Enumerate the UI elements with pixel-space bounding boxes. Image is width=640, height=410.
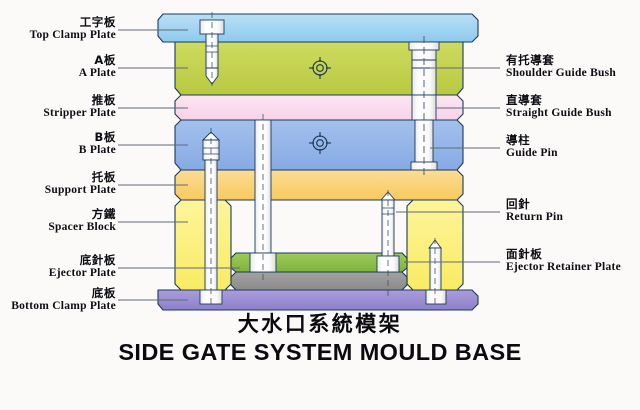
label-ejector-retainer-plate-en: Ejector Retainer Plate (506, 261, 621, 274)
label-bottom-clamp-plate-cn: 底板 (11, 287, 116, 300)
label-ejector-plate: 底針板 Ejector Plate (49, 254, 116, 280)
label-straight-guide-bush: 直導套 Straight Guide Bush (506, 94, 612, 120)
label-top-clamp-plate-cn: 工字板 (30, 16, 116, 29)
label-stripper-plate: 推板 Stripper Plate (43, 94, 116, 120)
return-pin-shaft (382, 200, 394, 256)
label-ejector-retainer-plate: 面針板 Ejector Retainer Plate (506, 248, 621, 274)
label-straight-guide-bush-en: Straight Guide Bush (506, 107, 612, 120)
label-ejector-plate-cn: 底針板 (49, 254, 116, 267)
label-guide-pin-cn: 導柱 (506, 134, 558, 147)
label-support-plate-cn: 托板 (45, 171, 116, 184)
label-straight-guide-bush-cn: 直導套 (506, 94, 612, 107)
label-bottom-clamp-plate: 底板 Bottom Clamp Plate (11, 287, 116, 313)
label-shoulder-guide-bush-en: Shoulder Guide Bush (506, 67, 616, 80)
label-spacer-block-en: Spacer Block (48, 221, 116, 234)
label-support-plate-en: Support Plate (45, 184, 116, 197)
label-top-clamp-plate: 工字板 Top Clamp Plate (30, 16, 116, 42)
label-b-plate-en: B Plate (79, 144, 116, 157)
label-b-plate: B板 B Plate (79, 131, 116, 157)
label-support-plate: 托板 Support Plate (45, 171, 116, 197)
label-return-pin-en: Return Pin (506, 211, 563, 224)
label-ejector-plate-en: Ejector Plate (49, 267, 116, 280)
outer-return-pin-shaft (430, 248, 441, 290)
label-top-clamp-plate-en: Top Clamp Plate (30, 29, 116, 42)
diagram-title: 大水口系統模架 SIDE GATE SYSTEM MOULD BASE (0, 311, 640, 367)
label-ejector-retainer-plate-cn: 面針板 (506, 248, 621, 261)
label-stripper-plate-cn: 推板 (43, 94, 116, 107)
diagram-title-cn: 大水口系統模架 (0, 311, 640, 338)
label-return-pin-cn: 回針 (506, 198, 563, 211)
outer-return-pin-foot (426, 290, 446, 304)
label-a-plate: A板 A Plate (79, 54, 116, 80)
diagram-stage: 工字板 Top Clamp Plate A板 A Plate 推板 Stripp… (0, 0, 640, 410)
label-b-plate-cn: B板 (79, 131, 116, 144)
label-a-plate-en: A Plate (79, 67, 116, 80)
label-guide-pin-en: Guide Pin (506, 147, 558, 160)
plate-support-plate (175, 170, 463, 200)
label-stripper-plate-en: Stripper Plate (43, 107, 116, 120)
diagram-title-en: SIDE GATE SYSTEM MOULD BASE (0, 338, 640, 367)
label-shoulder-guide-bush: 有托導套 Shoulder Guide Bush (506, 54, 616, 80)
label-shoulder-guide-bush-cn: 有托導套 (506, 54, 616, 67)
label-return-pin: 回針 Return Pin (506, 198, 563, 224)
label-spacer-block-cn: 方鐵 (48, 208, 116, 221)
label-spacer-block: 方鐵 Spacer Block (48, 208, 116, 234)
label-guide-pin: 導柱 Guide Pin (506, 134, 558, 160)
plate-ejector-plate (231, 272, 407, 290)
label-a-plate-cn: A板 (79, 54, 116, 67)
plate-spacer-block-left (175, 200, 231, 290)
